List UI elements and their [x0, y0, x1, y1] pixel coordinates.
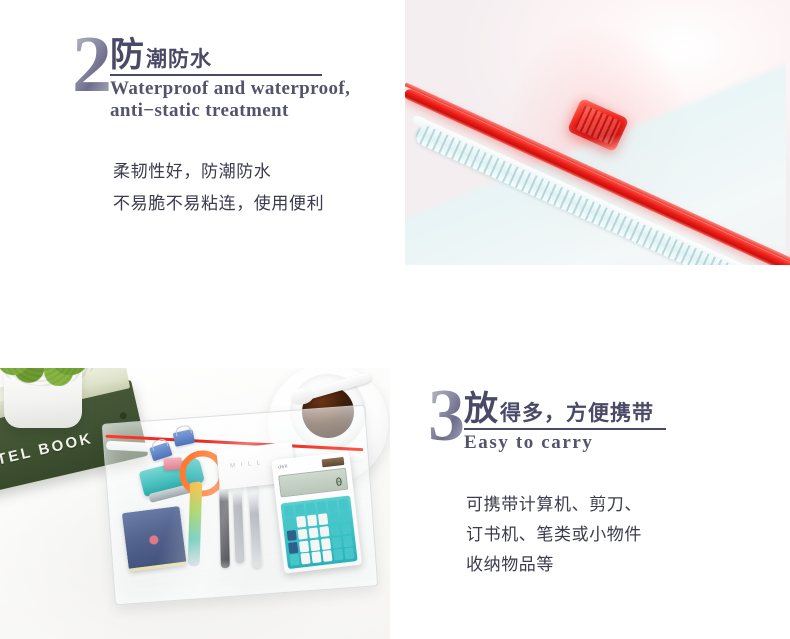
section-2-en-line-1: Waterproof and waterproof,	[110, 77, 350, 100]
plant-foliage	[0, 368, 102, 386]
section-3-cn-title: 放 得多，方便携带	[464, 392, 666, 426]
section-3-en-line-1: Easy to carry	[464, 431, 666, 454]
section-3-heading: 3 放 得多，方便携带 Easy to carry	[428, 388, 666, 454]
product-detail-page: 2 防 潮防水 Waterproof and waterproof, anti−…	[0, 0, 790, 639]
section-2-heading: 2 防 潮防水 Waterproof and waterproof, anti−…	[72, 34, 350, 122]
bag-sheen	[103, 406, 377, 605]
section-2-body-line-1: 柔韧性好，防潮防水	[113, 158, 271, 188]
section-2-cn-small: 潮防水	[146, 49, 212, 70]
section-3-cn-big: 放	[464, 392, 498, 426]
section-2-number: 2	[72, 34, 112, 96]
book-dot	[119, 412, 127, 420]
section-2-body-line-2: 不易脆不易粘连，使用便利	[113, 190, 324, 220]
section-3-divider	[464, 428, 666, 430]
section-gap	[0, 300, 790, 360]
section-2-cn-title: 防 潮防水	[110, 38, 350, 72]
section-2-cn-big: 防	[110, 38, 144, 72]
red-zipper-closeup-photo	[405, 0, 790, 265]
zipper-bag: M I L L deli	[102, 405, 379, 606]
section-3-body-line-3: 收纳物品等	[466, 551, 554, 581]
section-3-body-line-2: 订书机、笔类或小物件	[466, 521, 642, 551]
section-3-number: 3	[428, 388, 465, 446]
section-2-en-line-2: anti−static treatment	[110, 99, 350, 122]
plant-pot	[4, 368, 82, 428]
section-2-divider	[110, 74, 322, 76]
book-title-text: HOTEL BOOK	[0, 430, 95, 475]
section-3-cn-small: 得多，方便携带	[500, 403, 654, 424]
section-3-body-line-1: 可携带计算机、剪刀、	[466, 491, 642, 521]
desk-scene-photo: HOTEL BOOK	[0, 368, 390, 639]
